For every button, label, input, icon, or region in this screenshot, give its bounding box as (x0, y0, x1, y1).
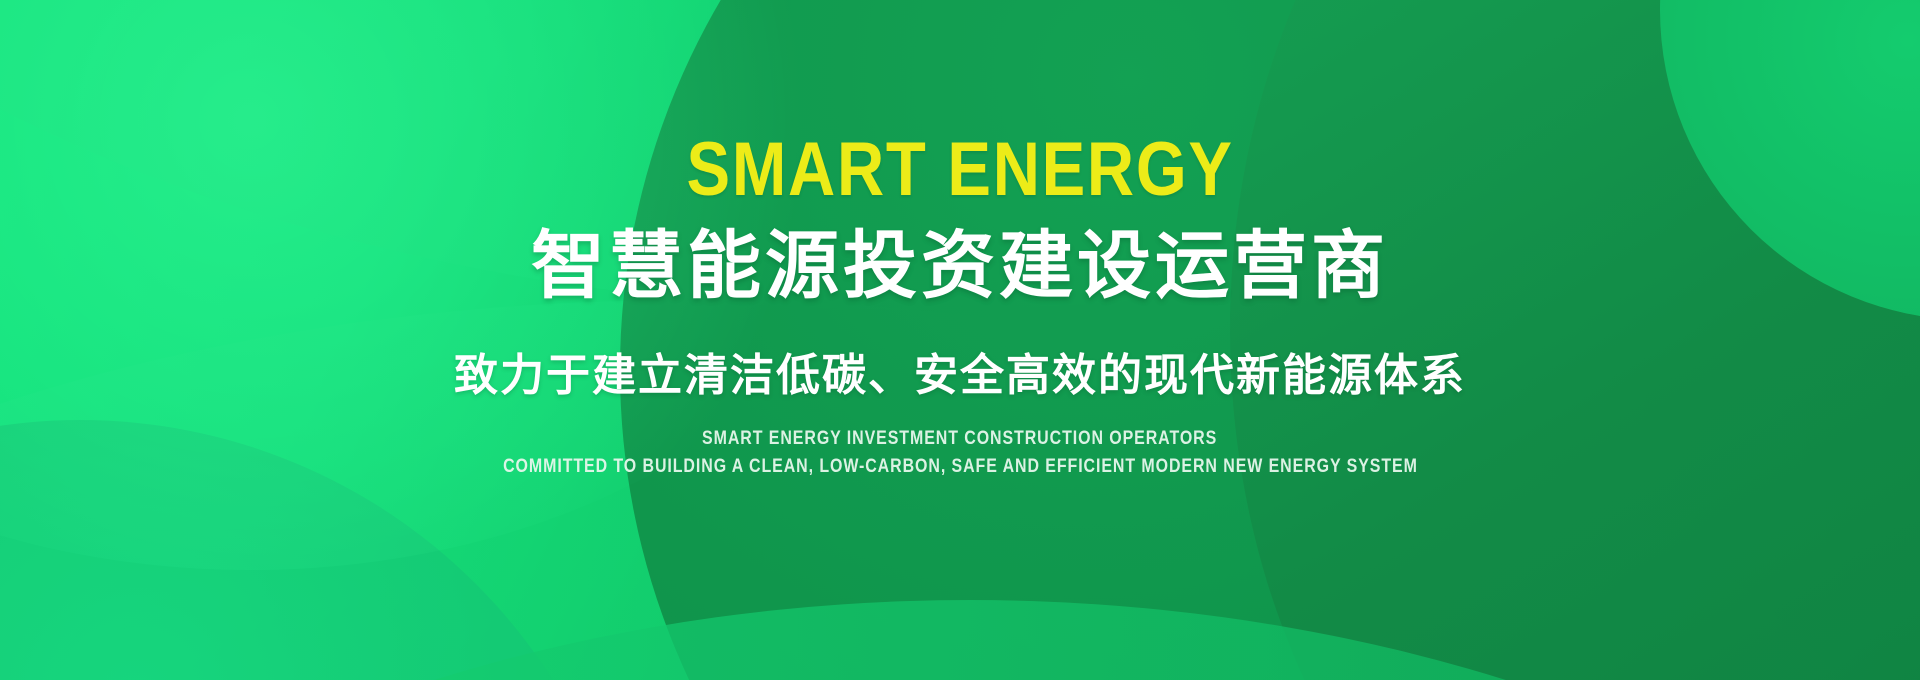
banner-headline-chinese: 智慧能源投资建设运营商 (531, 226, 1389, 306)
smart-energy-hero-banner: SMART ENERGY 智慧能源投资建设运营商 致力于建立清洁低碳、安全高效的… (0, 0, 1920, 680)
banner-tagline-line-1: SMART ENERGY INVESTMENT CONSTRUCTION OPE… (702, 427, 1217, 451)
banner-headline-english: SMART ENERGY (686, 132, 1233, 208)
banner-content: SMART ENERGY 智慧能源投资建设运营商 致力于建立清洁低碳、安全高效的… (0, 0, 1920, 680)
banner-subtitle-chinese: 致力于建立清洁低碳、安全高效的现代新能源体系 (454, 350, 1466, 403)
banner-tagline-group: SMART ENERGY INVESTMENT CONSTRUCTION OPE… (416, 427, 1505, 480)
banner-tagline-line-2: COMMITTED TO BUILDING A CLEAN, LOW-CARBO… (503, 455, 1418, 479)
